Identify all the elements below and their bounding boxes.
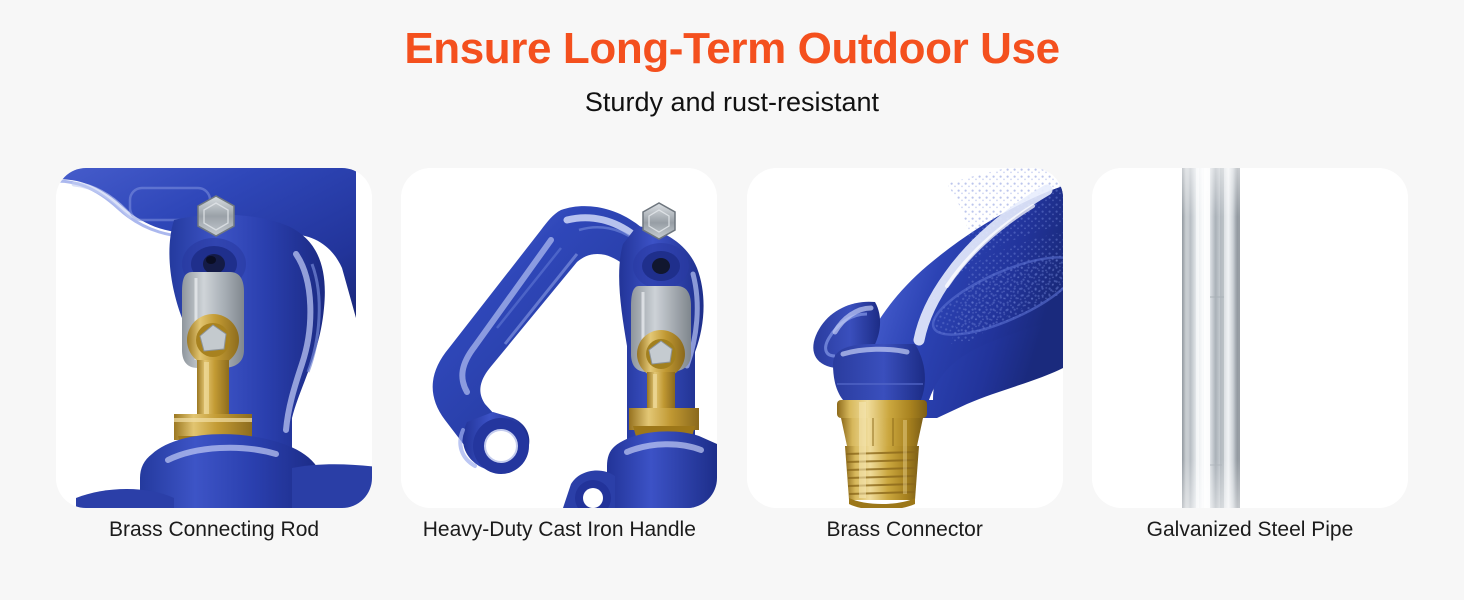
brass-pivot-nut [187,314,239,366]
steel-pipe-body [1182,168,1240,508]
banner-header: Ensure Long-Term Outdoor Use Sturdy and … [0,0,1464,118]
page-subtitle: Sturdy and rust-resistant [0,88,1464,118]
galvanized-steel-pipe-photo [1092,168,1408,508]
feature-card-brass-connecting-rod[interactable] [56,168,372,508]
caption-galvanized-steel-pipe: Galvanized Steel Pipe [1092,512,1408,562]
feature-card-row [56,168,1408,508]
caption-brass-connector: Brass Connector [747,512,1063,562]
lock-ring-hole [473,418,529,474]
feature-card-cast-iron-handle[interactable] [401,168,717,508]
brass-connector-photo [747,168,1063,508]
caption-cast-iron-handle: Heavy-Duty Cast Iron Handle [401,512,717,562]
cast-iron-handle-photo [401,168,717,508]
brass-pivot-nut [637,330,685,378]
caption-brass-connecting-rod: Brass Connecting Rod [56,512,372,562]
feature-caption-row: Brass Connecting Rod Heavy-Duty Cast Iro… [56,512,1408,562]
feature-card-brass-connector[interactable] [747,168,1063,508]
brass-connecting-rod-photo [56,168,372,508]
product-feature-banner: Ensure Long-Term Outdoor Use Sturdy and … [0,0,1464,600]
brass-threaded-connector [837,400,927,508]
feature-card-galvanized-steel-pipe[interactable] [1092,168,1408,508]
page-title: Ensure Long-Term Outdoor Use [0,26,1464,72]
pivot-hole-detail [633,243,689,289]
